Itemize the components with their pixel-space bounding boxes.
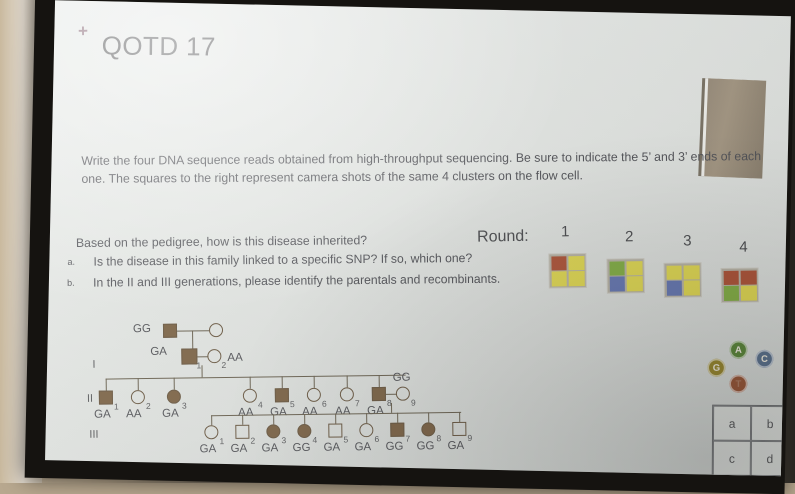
generation-label-I: I — [92, 359, 95, 371]
nucleotide-label-T: T — [735, 378, 741, 389]
pedigree-symbol-gen2-9 — [396, 387, 410, 401]
generation-label-II: II — [87, 393, 93, 405]
nucleotide-legend: G A C T — [707, 337, 791, 397]
genotype-gen3-8: GG — [416, 440, 434, 452]
nucleotide-label-G: G — [713, 362, 720, 373]
genotype-gen2-4: AA — [238, 407, 253, 419]
pedigree-number-gen3-1: 1 — [219, 436, 224, 446]
drop-line-gen2-7 — [347, 375, 349, 387]
answer-cell-c[interactable]: c — [713, 441, 751, 476]
cluster-4-cell-2 — [740, 270, 756, 284]
pedigree-symbol-gen3-3 — [266, 424, 280, 438]
descent-line-gen2 — [391, 403, 393, 413]
nucleotide-circle-T: T — [729, 375, 747, 393]
cluster-2-cell-1 — [609, 261, 625, 275]
pedigree-symbol-gen3-9 — [452, 422, 466, 436]
drop-line-gen2-4 — [250, 377, 252, 389]
genotype-gen3-1: GA — [200, 443, 217, 455]
pedigree-symbol-gen2-6 — [307, 388, 321, 402]
projector-screen-bezel: + QOTD 17 Write the four DNA sequence re… — [25, 0, 795, 494]
nucleotide-circle-G: G — [707, 359, 725, 377]
cluster-2-cell-2 — [626, 261, 642, 275]
slide-content: + QOTD 17 Write the four DNA sequence re… — [45, 1, 790, 476]
genotype-gen1-1: GA — [150, 346, 167, 358]
nucleotide-label-A: A — [735, 344, 742, 355]
pedigree-number-gen2-3: 3 — [182, 401, 187, 411]
plus-marker-icon: + — [78, 21, 88, 41]
drop-line-gen2-6 — [314, 376, 316, 388]
nucleotide-label-C: C — [761, 353, 768, 364]
drop-line-gen3-4 — [304, 414, 306, 424]
cluster-1-cell-3 — [551, 272, 567, 286]
drop-line-gen2-5 — [282, 376, 284, 388]
answer-cell-d[interactable]: d — [751, 441, 789, 476]
pedigree-symbol-gen2-2 — [131, 390, 145, 404]
cluster-2-cell-4 — [626, 276, 642, 290]
genotype-gen3-5: GA — [323, 442, 340, 454]
pedigree-symbol-gen3-4 — [297, 424, 311, 438]
cluster-4-cell-3 — [723, 286, 739, 300]
cluster-4-cell-4 — [741, 286, 757, 300]
drop-line-gen3-1 — [211, 415, 213, 425]
drop-line-gen3-2 — [242, 415, 244, 425]
pedigree-symbol-gen2-4 — [243, 389, 257, 403]
pedigree-number-gen3-5: 5 — [343, 434, 348, 444]
question-paragraph: Write the four DNA sequence reads obtain… — [81, 148, 781, 188]
drop-line-gen3-3 — [273, 414, 275, 424]
question-b-text: In the II and III generations, please id… — [93, 272, 500, 290]
page-title: QOTD 17 — [102, 30, 216, 62]
sibship-line-gen2 — [106, 375, 406, 380]
pedigree-symbol-gen3-8 — [421, 422, 435, 436]
genotype-gen3-9: GA — [447, 440, 464, 452]
cluster-3-cell-1 — [666, 265, 682, 279]
pedigree-symbol-gen2-5 — [275, 388, 289, 402]
pedigree-number-gen2-5: 5 — [290, 399, 295, 409]
pedigree-symbol-gen3-5 — [328, 423, 342, 437]
pedigree-number-gen3-9: 9 — [467, 433, 472, 443]
pedigree-symbol-gen3-1 — [204, 425, 218, 439]
pedigree-symbol-gen3-7 — [390, 423, 404, 437]
pedigree-symbol-gen2-1 — [99, 390, 113, 404]
genotype-gen2-3: GA — [162, 408, 179, 420]
presentation-slide: + QOTD 17 Write the four DNA sequence re… — [45, 0, 791, 476]
genotype-gen1-2: AA — [227, 352, 242, 364]
pedigree-symbol-gen3-6 — [359, 423, 373, 437]
pedigree-symbol-gen0-2 — [209, 323, 223, 337]
genotype-gen3-2: GA — [231, 443, 248, 455]
genotype-gen2-1: GA — [94, 409, 111, 421]
pedigree-number-gen3-2: 2 — [250, 436, 255, 446]
genotype-gen2-8: GA — [367, 405, 384, 417]
genotype-gen0-1: GG — [133, 323, 151, 335]
genotype-gen2-2: AA — [126, 408, 141, 420]
pedigree-symbol-gen1-1 — [181, 348, 197, 364]
genotype-gen2-7: AA — [335, 405, 350, 417]
genotype-gen3-7: GG — [385, 441, 403, 453]
pedigree-diagram: I II III GG GA 1 2 AA — [70, 315, 542, 469]
nucleotide-circle-A: A — [729, 341, 747, 359]
rounds-section: Round: 1 2 3 4 — [477, 206, 779, 320]
drop-line-gen2-2 — [138, 378, 140, 390]
pedigree-number-gen2-4: 4 — [258, 400, 263, 410]
nucleotide-circle-C: C — [755, 350, 773, 368]
drop-line-gen2-8 — [379, 375, 381, 387]
drop-line-gen2-3 — [174, 378, 176, 390]
pedigree-symbol-gen2-8 — [372, 387, 386, 401]
pedigree-number-gen3-8: 8 — [436, 433, 441, 443]
cluster-image-round-3 — [665, 263, 701, 297]
cluster-3-cell-2 — [683, 265, 699, 279]
genotype-gen3-3: GA — [262, 442, 279, 454]
answer-cell-b[interactable]: b — [751, 406, 789, 441]
cluster-3-cell-4 — [684, 281, 700, 295]
cluster-1-cell-1 — [551, 256, 567, 270]
cluster-4-cell-1 — [723, 270, 739, 284]
pedigree-number-gen2-9: 9 — [411, 398, 416, 408]
drop-line-gen3-8 — [428, 412, 430, 422]
drop-line-gen3-7 — [397, 413, 399, 423]
pedigree-number-gen2-7: 7 — [355, 398, 360, 408]
pedigree-symbol-gen0-1 — [163, 324, 177, 338]
drop-line-gen3-5 — [335, 414, 337, 424]
cluster-3-cell-3 — [666, 281, 682, 295]
round-number-4: 4 — [739, 239, 748, 256]
pedigree-symbol-gen1-2 — [207, 349, 221, 363]
question-a-label: a. — [67, 255, 93, 267]
drop-line-gen3-9 — [459, 412, 461, 422]
genotype-gen3-6: GA — [354, 441, 371, 453]
pedigree-symbol-gen2-7 — [340, 387, 354, 401]
generation-label-III: III — [89, 429, 98, 441]
round-number-1: 1 — [561, 223, 570, 240]
genotype-gen3-4: GG — [293, 442, 311, 454]
answer-cell-a[interactable]: a — [713, 406, 751, 441]
cluster-2-cell-3 — [609, 277, 625, 291]
cluster-image-round-2 — [607, 259, 643, 293]
pedigree-number-gen3-6: 6 — [374, 434, 379, 444]
drop-line-gen2-1 — [106, 379, 108, 391]
pedigree-number-gen1-2: 2 — [221, 360, 226, 370]
pedigree-number-gen3-3: 3 — [281, 435, 286, 445]
genotype-gen2-9: GG — [393, 372, 411, 384]
drop-line-gen3-6 — [366, 413, 368, 423]
round-number-2: 2 — [625, 228, 634, 245]
question-a-text: Is the disease in this family linked to … — [93, 251, 472, 269]
pedigree-number-gen2-2: 2 — [146, 401, 151, 411]
pedigree-number-gen2-6: 6 — [322, 399, 327, 409]
cluster-1-cell-4 — [568, 271, 584, 285]
descent-line-gen1 — [201, 365, 203, 377]
pedigree-number-gen3-4: 4 — [312, 435, 317, 445]
cluster-image-round-4 — [722, 268, 758, 302]
rounds-label: Round: — [477, 228, 529, 247]
round-number-3: 3 — [683, 232, 692, 249]
cluster-1-cell-2 — [568, 256, 584, 270]
pedigree-symbol-gen2-3 — [167, 390, 181, 404]
pedigree-symbol-gen3-2 — [235, 425, 249, 439]
cluster-image-round-1 — [549, 254, 585, 288]
pedigree-number-gen3-7: 7 — [405, 434, 410, 444]
pedigree-number-gen2-1: 1 — [114, 401, 119, 411]
question-b-label: b. — [67, 276, 93, 288]
answer-grid[interactable]: a b c d — [712, 405, 790, 476]
